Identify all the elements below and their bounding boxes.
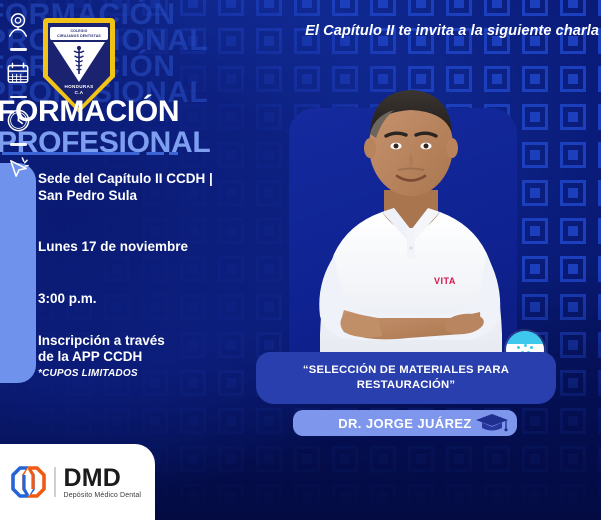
dmd-brand: DMD	[64, 466, 142, 491]
graduation-cap-icon	[475, 411, 509, 435]
info-icon-column	[0, 0, 36, 220]
registration-note: *CUPOS LIMITADOS	[38, 366, 165, 382]
info-row-location: Sede del Capítulo II CCDH | San Pedro Su…	[38, 170, 213, 204]
caduceus-icon	[71, 45, 87, 78]
speaker-name: DR. JORGE JUÁREZ	[338, 416, 472, 431]
location-pin-icon	[3, 9, 33, 41]
time-text: 3:00 p.m.	[38, 290, 97, 307]
shield-band-line-2: CIRUJANOS DENTISTAS	[57, 34, 101, 39]
dmd-wordmark: DMD Depósito Médico Dental	[64, 466, 142, 499]
rail-divider	[10, 96, 27, 99]
dmd-mark-icon	[8, 464, 48, 500]
info-row-registration: Inscripción a través de la APP CCDH *CUP…	[38, 333, 165, 382]
talk-title-card: “SELECCIÓN DE MATERIALES PARA RESTAURACI…	[256, 352, 556, 404]
click-cursor-icon	[3, 152, 33, 184]
info-row-time: 3:00 p.m.	[38, 290, 97, 307]
registration-line-2: de la APP CCDH	[38, 349, 165, 365]
registration-line-1: Inscripción a través	[38, 333, 165, 349]
dmd-logo-divider	[54, 467, 56, 497]
rail-divider	[10, 48, 27, 51]
clock-icon	[3, 104, 33, 136]
talk-title: “SELECCIÓN DE MATERIALES PARA RESTAURACI…	[256, 363, 556, 393]
svg-text:VITA: VITA	[434, 276, 456, 286]
promo-flyer: FORMACIÓN PROFESIONAL FORMACIÓN PROFESIO…	[0, 0, 601, 520]
location-line-1: Sede del Capítulo II CCDH |	[38, 170, 213, 187]
shield-band: COLEGIO CIRUJANOS DENTISTAS	[50, 27, 108, 40]
calendar-icon	[3, 57, 33, 89]
dmd-logo: DMD Depósito Médico Dental	[0, 444, 155, 520]
invite-headline: El Capítulo II te invita a la siguiente …	[305, 23, 599, 39]
flag-stripe-top	[506, 331, 544, 344]
dmd-tagline: Depósito Médico Dental	[64, 492, 142, 499]
info-row-date: Lunes 17 de noviembre	[38, 238, 188, 255]
location-line-2: San Pedro Sula	[38, 187, 213, 204]
rail-divider	[10, 143, 27, 146]
speaker-photo: VITA	[286, 72, 536, 372]
date-text: Lunes 17 de noviembre	[38, 238, 188, 255]
speaker-name-bar: DR. JORGE JUÁREZ	[293, 410, 517, 436]
